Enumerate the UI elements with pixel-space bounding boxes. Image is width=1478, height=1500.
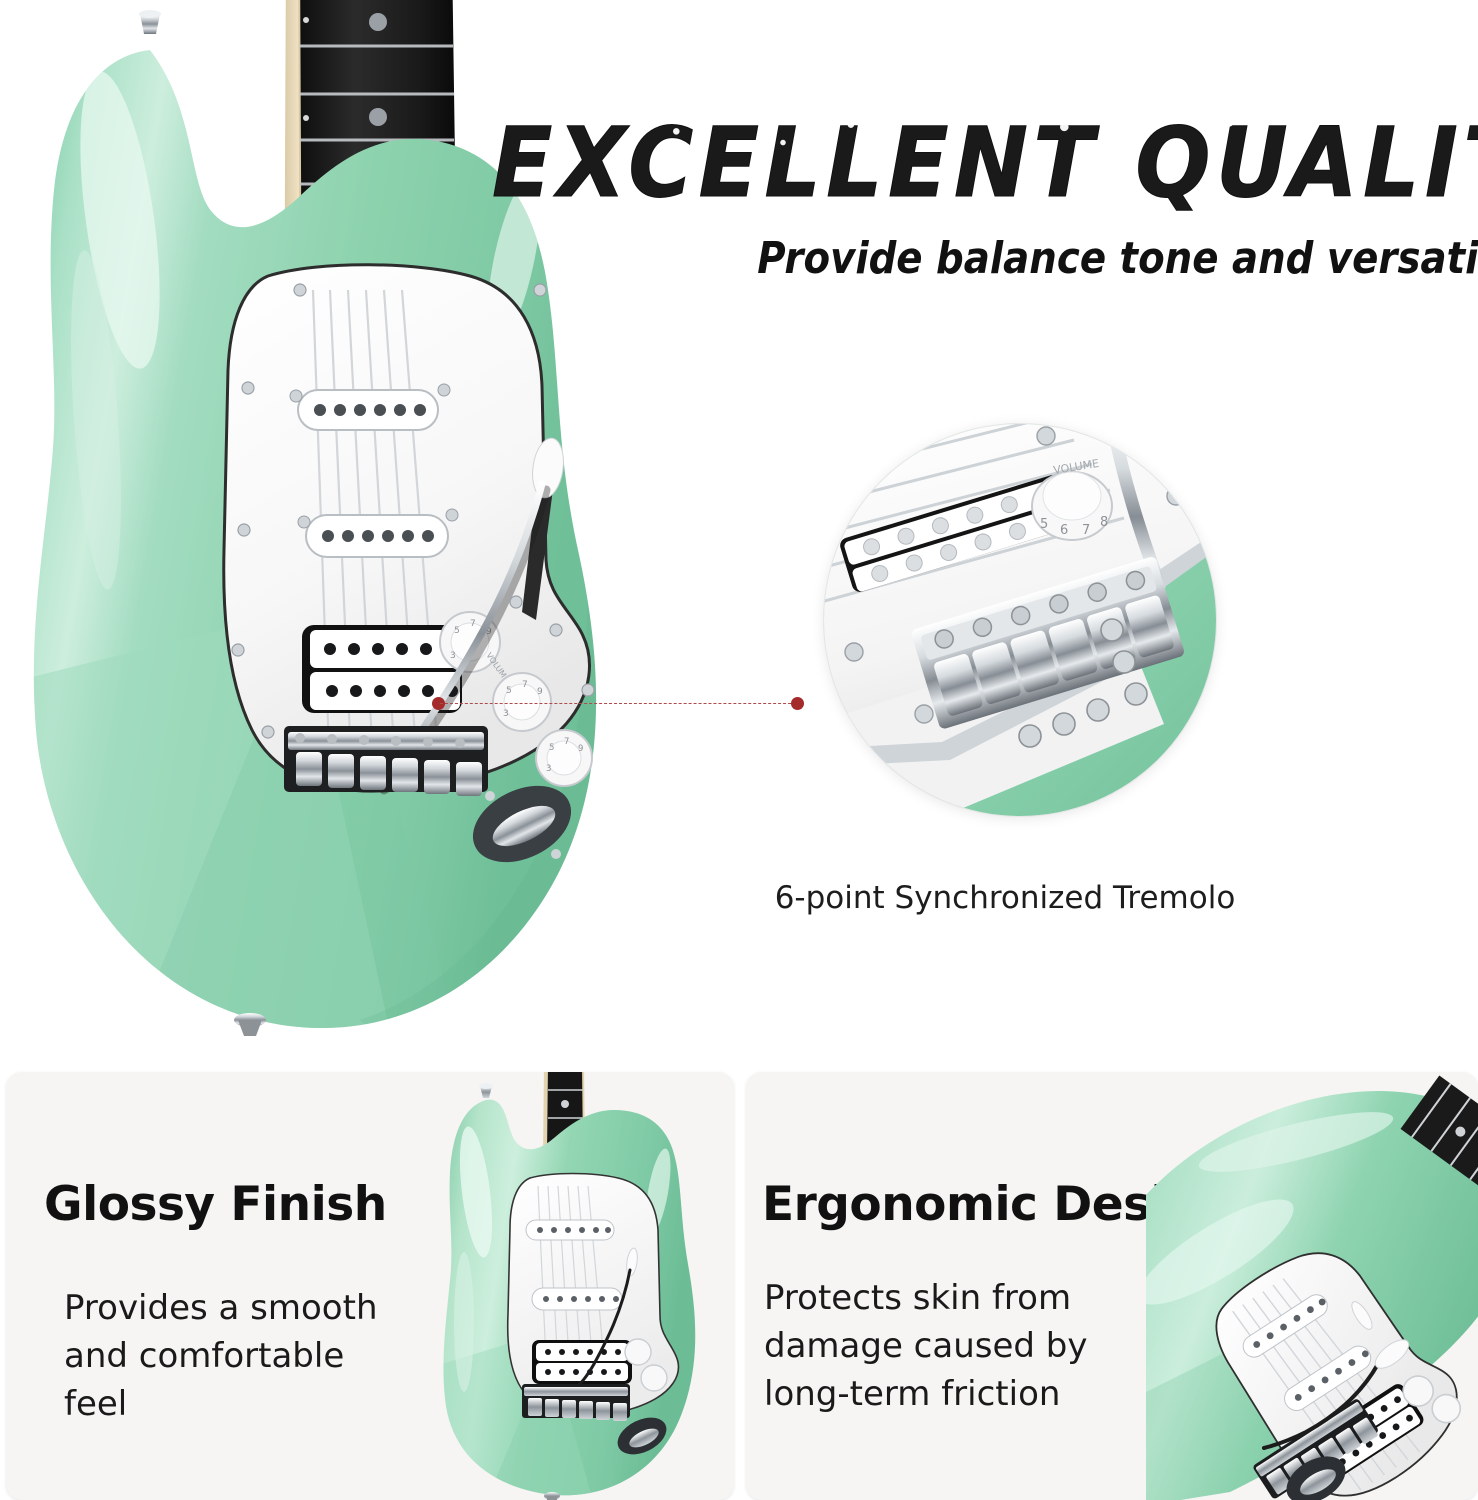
svg-text:5: 5 xyxy=(549,743,554,753)
panel-title-glossy: Glossy Finish xyxy=(44,1177,387,1232)
tremolo-bridge xyxy=(284,726,488,796)
tremolo-detail-callout: 56 78 VOLUME xyxy=(824,424,1216,816)
svg-text:5: 5 xyxy=(506,686,512,696)
svg-text:7: 7 xyxy=(522,680,528,690)
svg-text:3: 3 xyxy=(503,709,509,719)
pickup-neck xyxy=(290,384,450,430)
strap-button-top xyxy=(139,10,161,34)
svg-text:6: 6 xyxy=(1060,523,1068,538)
svg-text:5: 5 xyxy=(1040,517,1048,532)
feature-panel-glossy-finish: Glossy Finish Provides a smooth and comf… xyxy=(6,1072,734,1500)
page-subtitle: Provide balance tone and versatility xyxy=(757,233,1470,285)
svg-text:7: 7 xyxy=(470,619,476,629)
svg-text:7: 7 xyxy=(564,737,569,747)
svg-text:9: 9 xyxy=(578,744,583,754)
svg-text:3: 3 xyxy=(546,764,551,774)
strap-button-bottom xyxy=(234,1013,266,1036)
svg-text:9: 9 xyxy=(537,687,543,697)
connector-line xyxy=(440,703,796,704)
knob-tone-2: 35 79 xyxy=(536,730,592,786)
svg-text:5: 5 xyxy=(454,626,460,636)
svg-text:3: 3 xyxy=(450,651,456,661)
svg-text:8: 8 xyxy=(1100,515,1108,530)
panel-body-glossy: Provides a smooth and comfortable feel xyxy=(64,1284,414,1428)
ergonomic-design-guitar-image xyxy=(1146,1072,1478,1500)
hero-section: 35 79 VOLUME 35 79 35 79 xyxy=(0,0,1478,1060)
page-title: EXCELLENT QUALITY xyxy=(492,108,1384,218)
connector-dot-end xyxy=(791,697,804,710)
tremolo-caption: 6-point Synchronized Tremolo xyxy=(700,880,1310,916)
feature-panel-ergonomic-design: Ergonomic Design Protects skin from dama… xyxy=(746,1072,1478,1500)
callout-connector xyxy=(432,701,804,706)
panel-body-ergonomic: Protects skin from damage caused by long… xyxy=(764,1274,1094,1418)
svg-text:7: 7 xyxy=(1082,523,1090,538)
glossy-finish-guitar-image xyxy=(426,1072,734,1500)
pickup-middle xyxy=(298,509,458,557)
